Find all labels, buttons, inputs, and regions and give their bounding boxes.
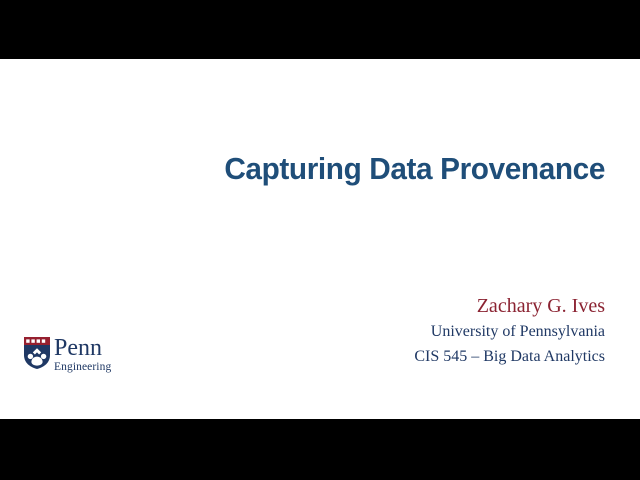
penn-engineering-logo: Penn Engineering (24, 337, 111, 373)
letterbox-bar-top (0, 0, 640, 59)
slide-title: Capturing Data Provenance (67, 153, 605, 186)
author-affiliation: University of Pennsylvania (85, 319, 605, 344)
video-frame: Capturing Data Provenance Zachary G. Ive… (0, 0, 640, 480)
logo-engineering-text: Engineering (54, 361, 111, 374)
course-title: CIS 545 – Big Data Analytics (85, 344, 605, 369)
presentation-slide: Capturing Data Provenance Zachary G. Ive… (0, 59, 640, 419)
penn-wordmark: Penn Engineering (54, 337, 111, 374)
author-name: Zachary G. Ives (85, 293, 605, 319)
penn-shield-icon (24, 337, 50, 369)
byline-block: Zachary G. Ives University of Pennsylvan… (85, 293, 605, 369)
letterbox-bar-bottom (0, 419, 640, 480)
logo-penn-text: Penn (54, 337, 102, 359)
